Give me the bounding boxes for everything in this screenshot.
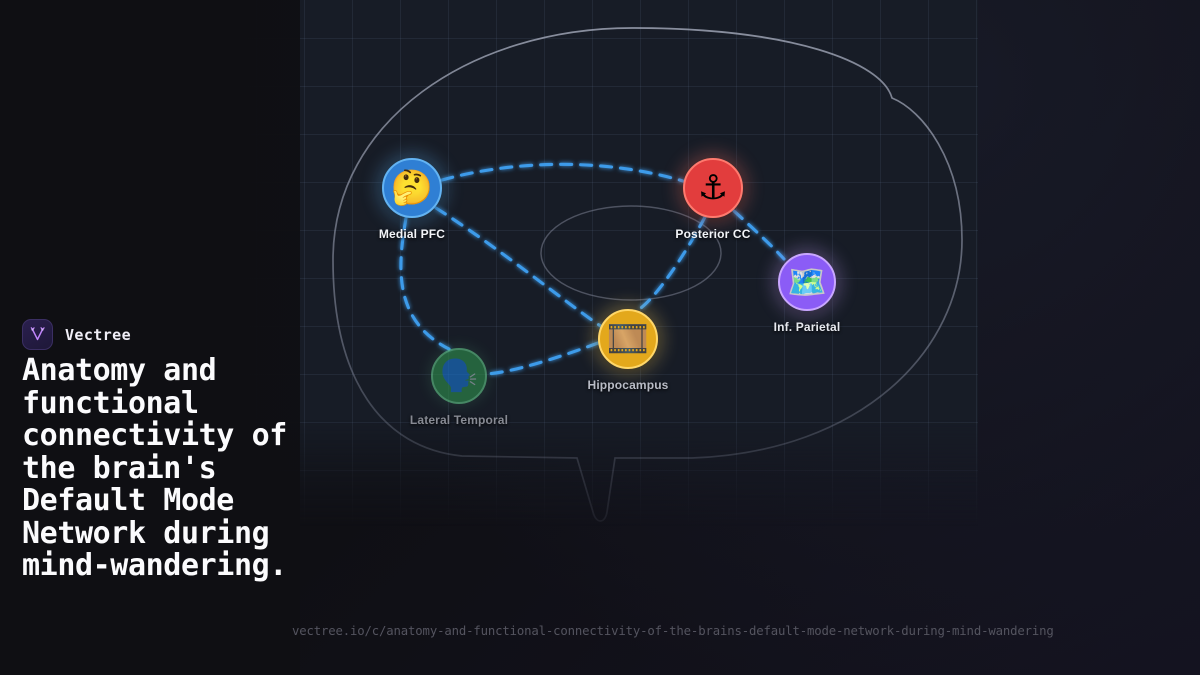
- world-map-icon: 🗺️: [787, 266, 827, 298]
- graph-node-circle-posterior-cc[interactable]: ⚓: [683, 158, 743, 218]
- edge-hippocampus-lateral-temporal: [487, 343, 598, 374]
- left-text-panel: Vectree Anatomy and functional connectiv…: [0, 0, 300, 675]
- anchor-icon: ⚓: [698, 171, 728, 205]
- page-title: Anatomy and functional connectivity of t…: [22, 355, 300, 583]
- speaking-head-icon: 🗣️: [440, 361, 479, 392]
- brand-name: Vectree: [65, 326, 131, 344]
- graph-node-label-hippocampus: Hippocampus: [588, 378, 669, 392]
- vectree-v-logo-icon: [22, 319, 53, 350]
- graph-node-label-posterior-cc: Posterior CC: [675, 227, 750, 241]
- graph-node-circle-inf-parietal[interactable]: 🗺️: [778, 253, 836, 311]
- graph-node-circle-hippocampus[interactable]: 🎞️: [598, 309, 658, 369]
- graph-node-label-medial-pfc: Medial PFC: [379, 227, 445, 241]
- thinking-face-icon: 🤔: [391, 171, 433, 205]
- graph-node-label-lateral-temporal: Lateral Temporal: [410, 413, 508, 427]
- graph-node-circle-lateral-temporal[interactable]: 🗣️: [431, 348, 487, 404]
- share-card: 🤔Medial PFC⚓Posterior CC🗺️Inf. Parietal🎞…: [0, 0, 1200, 675]
- brain-graph-canvas: 🤔Medial PFC⚓Posterior CC🗺️Inf. Parietal🎞…: [222, 0, 978, 675]
- edge-mpfc-pcc: [442, 164, 683, 181]
- brand-row: Vectree: [22, 319, 131, 350]
- graph-node-label-inf-parietal: Inf. Parietal: [774, 320, 841, 334]
- inner-ventricle-ellipse: [541, 206, 721, 300]
- graph-node-circle-medial-pfc[interactable]: 🤔: [382, 158, 442, 218]
- edge-mpfc-hippocampus: [436, 208, 602, 327]
- brain-speech-bubble-outline: [333, 28, 962, 521]
- film-frames-icon: 🎞️: [607, 322, 649, 356]
- footer-url: vectree.io/c/anatomy-and-functional-conn…: [292, 624, 1054, 638]
